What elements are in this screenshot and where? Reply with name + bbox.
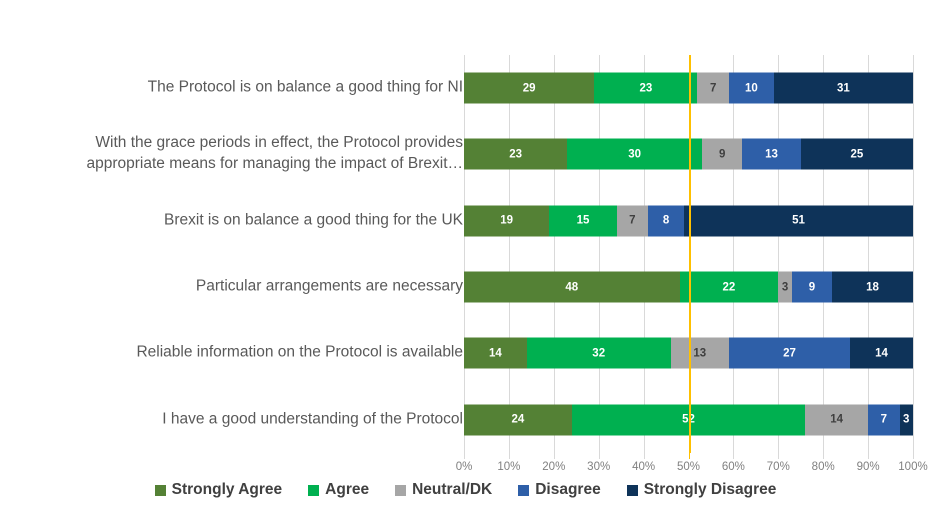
stacked-bar-chart: 2923710312330913251915785148223918143213… (0, 0, 931, 523)
bar-segment[interactable]: 22 (680, 272, 779, 303)
bar-segment[interactable]: 24 (464, 404, 572, 435)
x-tick-mark (913, 453, 914, 459)
bar-segment[interactable]: 19 (464, 205, 549, 236)
bar-segment[interactable]: 31 (774, 73, 913, 104)
bar-segment[interactable]: 3 (900, 404, 913, 435)
x-tick-label: 60% (722, 461, 745, 473)
x-tick-label: 40% (632, 461, 655, 473)
x-tick-label: 20% (542, 461, 565, 473)
legend-label: Neutral/DK (412, 481, 492, 499)
legend-label: Disagree (535, 481, 600, 499)
bar-segment[interactable]: 14 (805, 404, 868, 435)
x-tick-mark (509, 453, 510, 459)
x-tick-mark (599, 453, 600, 459)
x-tick-label: 30% (587, 461, 610, 473)
bar-segment[interactable]: 23 (594, 73, 697, 104)
bar-segment[interactable]: 14 (850, 338, 913, 369)
category-label: Brexit is on balance a good thing for th… (13, 210, 463, 231)
bar-segment[interactable]: 7 (868, 404, 899, 435)
reference-line-50-percent (689, 55, 691, 453)
legend-swatch-icon (518, 485, 529, 496)
bar-segment[interactable]: 27 (729, 338, 850, 369)
x-tick-label: 80% (812, 461, 835, 473)
x-tick-label: 70% (767, 461, 790, 473)
bar-segment[interactable]: 9 (792, 272, 832, 303)
x-tick-mark (689, 453, 690, 459)
plot-area: 2923710312330913251915785148223918143213… (464, 55, 913, 453)
bar-segment[interactable]: 30 (567, 139, 702, 170)
gridline-100 (913, 55, 914, 453)
bar-segment[interactable]: 15 (549, 205, 616, 236)
x-tick-label: 90% (857, 461, 880, 473)
x-tick-mark (778, 453, 779, 459)
legend: Strongly AgreeAgreeNeutral/DKDisagreeStr… (0, 481, 931, 499)
bar-segment[interactable]: 13 (671, 338, 729, 369)
legend-swatch-icon (308, 485, 319, 496)
legend-item[interactable]: Neutral/DK (395, 481, 492, 499)
bar-segment[interactable]: 48 (464, 272, 680, 303)
x-tick-mark (644, 453, 645, 459)
x-axis: 0%10%20%30%40%50%60%70%80%90%100% (464, 453, 913, 479)
x-tick-label: 50% (677, 461, 700, 473)
bar-segment[interactable]: 10 (729, 73, 774, 104)
bar-segment[interactable]: 29 (464, 73, 594, 104)
x-tick-mark (868, 453, 869, 459)
bar-segment[interactable]: 3 (778, 272, 791, 303)
legend-label: Strongly Agree (172, 481, 283, 499)
x-tick-mark (554, 453, 555, 459)
bar-segment[interactable]: 18 (832, 272, 913, 303)
x-tick-label: 100% (898, 461, 927, 473)
bar-segment[interactable]: 7 (617, 205, 648, 236)
category-label: Reliable information on the Protocol is … (13, 343, 463, 364)
bar-segment[interactable]: 7 (697, 73, 728, 104)
legend-item[interactable]: Agree (308, 481, 369, 499)
bar-segment[interactable]: 14 (464, 338, 527, 369)
legend-swatch-icon (395, 485, 406, 496)
bar-segment[interactable]: 25 (801, 139, 913, 170)
legend-item[interactable]: Strongly Disagree (627, 481, 777, 499)
category-label: With the grace periods in effect, the Pr… (13, 134, 463, 176)
x-tick-label: 10% (497, 461, 520, 473)
bar-segment[interactable]: 23 (464, 139, 567, 170)
bar-segment[interactable]: 9 (702, 139, 742, 170)
legend-item[interactable]: Disagree (518, 481, 600, 499)
x-tick-mark (733, 453, 734, 459)
bar-segment[interactable]: 13 (742, 139, 800, 170)
category-label: I have a good understanding of the Proto… (13, 409, 463, 430)
legend-swatch-icon (155, 485, 166, 496)
legend-label: Agree (325, 481, 369, 499)
x-tick-label: 0% (456, 461, 473, 473)
x-tick-mark (823, 453, 824, 459)
legend-label: Strongly Disagree (644, 481, 777, 499)
bar-segment[interactable]: 51 (684, 205, 913, 236)
category-label: Particular arrangements are necessary (13, 277, 463, 298)
x-tick-mark (464, 453, 465, 459)
legend-item[interactable]: Strongly Agree (155, 481, 283, 499)
category-label: The Protocol is on balance a good thing … (13, 78, 463, 99)
bar-segment[interactable]: 32 (527, 338, 671, 369)
bar-segment[interactable]: 8 (648, 205, 684, 236)
legend-swatch-icon (627, 485, 638, 496)
